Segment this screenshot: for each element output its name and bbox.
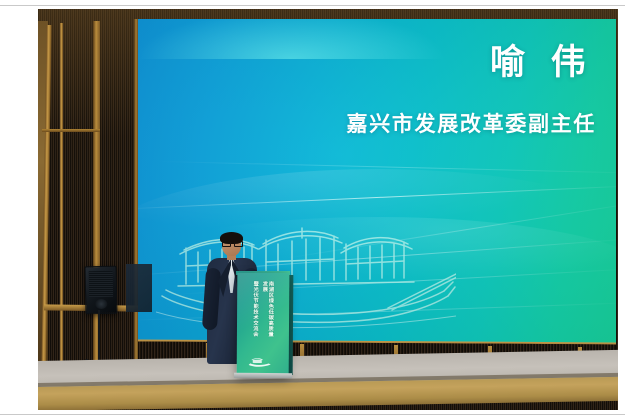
acoustic-wall-panel (126, 264, 152, 312)
podium: 南湖区绿色低碳高质量发展 暨光伏节能技术交流会 (237, 273, 290, 377)
photo-frame: 喻 伟 嘉兴市发展改革委副主任 (0, 0, 625, 420)
speaker-woofer (95, 299, 107, 309)
gold-frame-post (60, 23, 63, 373)
gold-frame-rail (42, 129, 100, 132)
speaker-stand-pole (98, 310, 100, 366)
podium-sign-text: 南湖区绿色低碳高质量发展 暨光伏节能技术交流会 (244, 281, 282, 339)
stage-photograph: 喻 伟 嘉兴市发展改革委副主任 (38, 9, 618, 410)
glasses-bridge (222, 241, 241, 246)
podium-sign-column-right: 南湖区绿色低碳高质量发展 (261, 281, 274, 339)
boat-logo-icon (247, 357, 273, 368)
frame-rule-bottom (0, 414, 625, 415)
speaker-grille (89, 271, 114, 297)
podium-sign-column-left: 暨光伏节能技术交流会 (252, 281, 259, 339)
speaker-name: 喻 伟 (490, 45, 594, 80)
speaker-title: 嘉兴市发展改革委副主任 (347, 114, 596, 135)
podium-base (234, 373, 292, 379)
loudspeaker (85, 266, 118, 315)
frame-rule-top (0, 5, 625, 6)
